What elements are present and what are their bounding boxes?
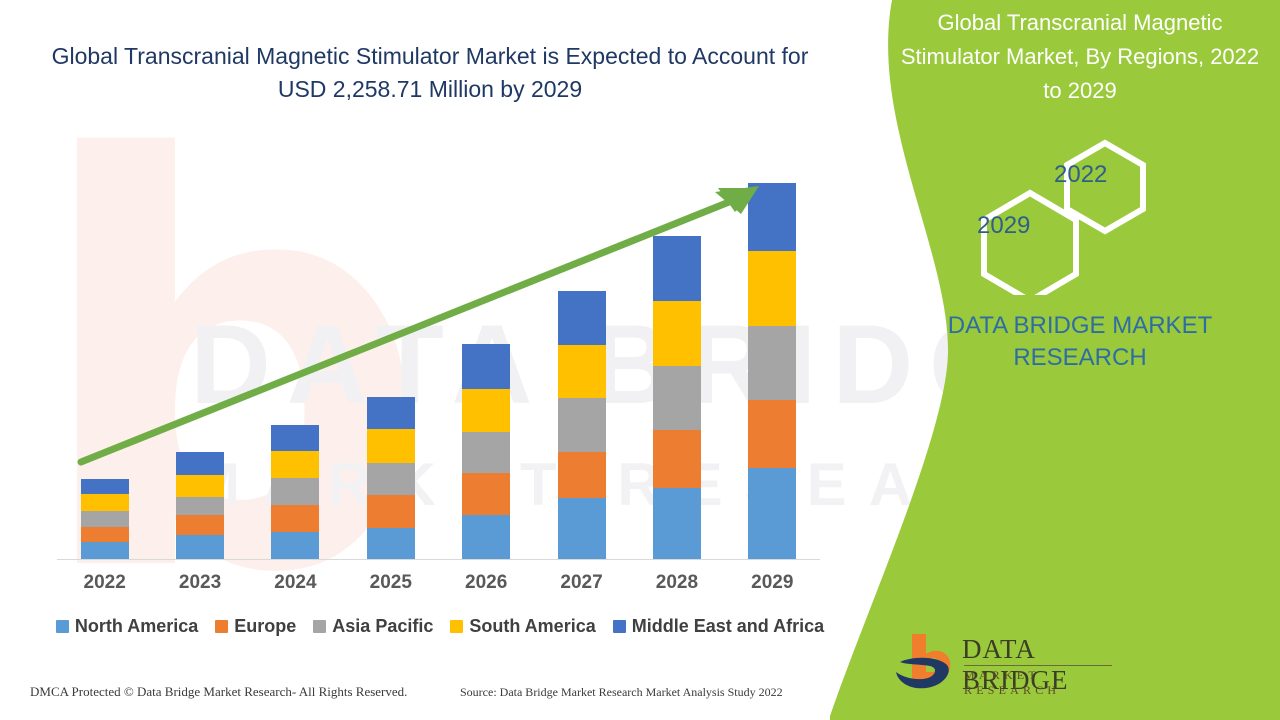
bar-segment bbox=[271, 425, 319, 451]
bar-segment bbox=[81, 479, 129, 494]
bar-segment bbox=[462, 473, 510, 515]
bar-segment bbox=[558, 291, 606, 344]
legend-swatch-icon bbox=[56, 620, 69, 633]
legend-label: South America bbox=[469, 616, 595, 637]
bar-segment bbox=[176, 515, 224, 535]
bar-stack bbox=[367, 397, 415, 559]
bar-segment bbox=[81, 494, 129, 511]
bar-stack bbox=[748, 183, 796, 559]
bar-stack bbox=[271, 425, 319, 559]
bar-segment bbox=[176, 452, 224, 475]
bar-segment bbox=[176, 535, 224, 559]
legend-item[interactable]: Europe bbox=[215, 616, 296, 637]
bar-stack bbox=[462, 344, 510, 559]
x-axis-label: 2025 bbox=[343, 572, 438, 594]
bar-stack bbox=[81, 479, 129, 559]
legend-label: Asia Pacific bbox=[332, 616, 433, 637]
bar-segment bbox=[653, 366, 701, 429]
legend-swatch-icon bbox=[313, 620, 326, 633]
x-axis-label: 2027 bbox=[534, 572, 629, 594]
bar-column bbox=[343, 150, 438, 559]
bar-segment bbox=[271, 505, 319, 532]
bar-column bbox=[629, 150, 724, 559]
bar-segment bbox=[367, 528, 415, 559]
bar-segment bbox=[271, 478, 319, 505]
legend-swatch-icon bbox=[613, 620, 626, 633]
bar-column bbox=[248, 150, 343, 559]
side-panel: Global Transcranial Magnetic Stimulator … bbox=[830, 0, 1280, 720]
logo-subtitle: MARKET RESEARCH bbox=[964, 668, 1120, 698]
side-panel-brand: DATA BRIDGE MARKET RESEARCH bbox=[890, 310, 1270, 374]
bar-segment bbox=[81, 511, 129, 527]
hex-badge-shapes bbox=[930, 135, 1180, 295]
legend-swatch-icon bbox=[450, 620, 463, 633]
bar-segment bbox=[558, 498, 606, 559]
bar-segment bbox=[653, 488, 701, 559]
side-panel-title: Global Transcranial Magnetic Stimulator … bbox=[895, 6, 1265, 108]
legend-swatch-icon bbox=[215, 620, 228, 633]
bar-segment bbox=[176, 497, 224, 515]
bar-segment bbox=[653, 430, 701, 488]
bar-segment bbox=[367, 463, 415, 495]
bar-segment bbox=[462, 344, 510, 389]
bar-segment bbox=[462, 389, 510, 431]
bar-segment bbox=[653, 301, 701, 366]
legend-item[interactable]: Middle East and Africa bbox=[613, 616, 824, 637]
bar-column bbox=[153, 150, 248, 559]
bar-segment bbox=[367, 429, 415, 462]
bar-segment bbox=[176, 475, 224, 497]
bar-stack bbox=[653, 236, 701, 559]
bar-segment bbox=[462, 432, 510, 473]
x-axis-label: 2028 bbox=[629, 572, 724, 594]
x-axis-label: 2024 bbox=[248, 572, 343, 594]
x-axis-labels: 20222023202420252026202720282029 bbox=[57, 572, 820, 594]
company-logo: DATA BRIDGE MARKET RESEARCH bbox=[890, 628, 1120, 700]
x-axis-label: 2023 bbox=[153, 572, 248, 594]
bar-segment bbox=[271, 532, 319, 559]
legend-item[interactable]: Asia Pacific bbox=[313, 616, 433, 637]
bar-column bbox=[439, 150, 534, 559]
dmca-notice: DMCA Protected © Data Bridge Market Rese… bbox=[30, 684, 407, 700]
bar-column bbox=[725, 150, 820, 559]
hex-badge-year-2022: 2022 bbox=[1054, 161, 1107, 189]
chart-panel: Global Transcranial Magnetic Stimulator … bbox=[0, 0, 900, 720]
bar-segment bbox=[748, 468, 796, 559]
bar-column bbox=[534, 150, 629, 559]
bar-stack bbox=[176, 452, 224, 559]
infographic-page: b DATA BRIDGE MARKET RESEARCH Global Tra… bbox=[0, 0, 1280, 720]
legend-item[interactable]: North America bbox=[56, 616, 198, 637]
bar-column bbox=[57, 150, 152, 559]
hex-badge-year-2029: 2029 bbox=[977, 212, 1030, 240]
legend-label: Europe bbox=[234, 616, 296, 637]
chart-title: Global Transcranial Magnetic Stimulator … bbox=[40, 40, 820, 106]
bar-segment bbox=[271, 451, 319, 477]
bar-segment bbox=[81, 527, 129, 542]
bar-group bbox=[57, 150, 820, 559]
plot-area bbox=[57, 150, 820, 560]
x-axis-line bbox=[57, 559, 820, 560]
bar-segment bbox=[748, 326, 796, 399]
bar-segment bbox=[462, 515, 510, 559]
legend-label: Middle East and Africa bbox=[632, 616, 824, 637]
logo-divider bbox=[964, 665, 1112, 666]
hex-badge-group: 2022 2029 bbox=[930, 135, 1180, 295]
bar-segment bbox=[367, 397, 415, 429]
bar-segment bbox=[558, 452, 606, 498]
bar-segment bbox=[81, 542, 129, 559]
source-note: Source: Data Bridge Market Research Mark… bbox=[460, 685, 783, 700]
bar-segment bbox=[367, 495, 415, 528]
legend-item[interactable]: South America bbox=[450, 616, 595, 637]
bar-segment bbox=[558, 345, 606, 398]
x-axis-label: 2026 bbox=[439, 572, 534, 594]
x-axis-label: 2029 bbox=[725, 572, 820, 594]
bar-segment bbox=[748, 400, 796, 468]
x-axis-label: 2022 bbox=[57, 572, 152, 594]
bar-stack bbox=[558, 291, 606, 559]
bar-segment bbox=[558, 398, 606, 452]
legend-label: North America bbox=[75, 616, 198, 637]
bar-segment bbox=[748, 251, 796, 326]
bar-segment bbox=[653, 236, 701, 301]
chart-legend: North AmericaEuropeAsia PacificSouth Ame… bbox=[57, 616, 823, 637]
bar-segment bbox=[748, 183, 796, 251]
